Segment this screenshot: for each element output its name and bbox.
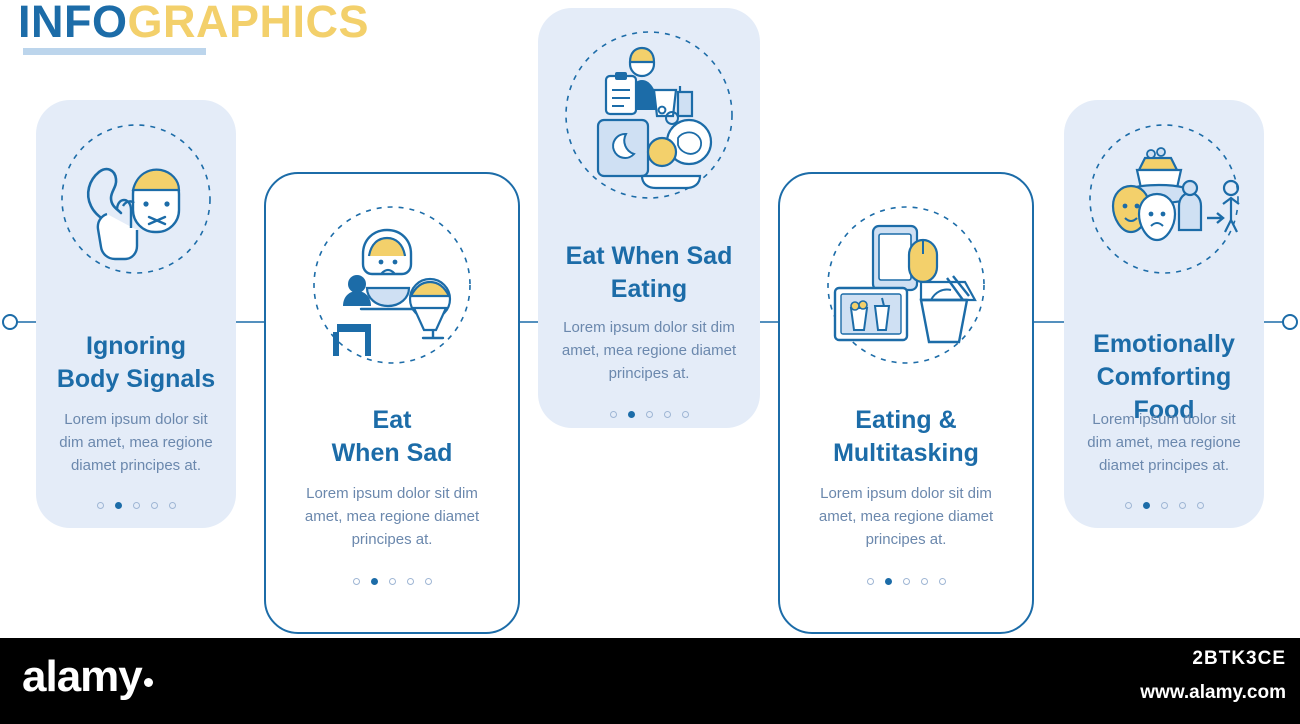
- alamy-logo-dot: [144, 678, 153, 687]
- step-dot[interactable]: [133, 502, 140, 509]
- step-dot[interactable]: [610, 411, 617, 418]
- card-title-line1: Ignoring: [86, 332, 186, 360]
- delivery-person-night-eating-icon: [554, 20, 744, 210]
- card-title-line1: Eat When Sad: [566, 242, 733, 270]
- step-dot[interactable]: [1161, 502, 1168, 509]
- card-step-dots[interactable]: [538, 411, 760, 418]
- card-step-dots[interactable]: [780, 578, 1032, 585]
- card-eating-multitasking[interactable]: Eating & Multitasking Lorem ipsum dolor …: [778, 172, 1034, 634]
- card-ignoring-body-signals[interactable]: Ignoring Body Signals Lorem ipsum dolor …: [36, 100, 236, 528]
- alamy-url: www.alamy.com: [1140, 682, 1286, 704]
- step-dot[interactable]: [425, 578, 432, 585]
- step-dot[interactable]: [939, 578, 946, 585]
- image-code: 2BTK3CE: [1192, 648, 1286, 670]
- step-dot[interactable]: [867, 578, 874, 585]
- card-body: Lorem ipsum dolor sit dim amet, mea regi…: [36, 408, 236, 477]
- step-dot[interactable]: [389, 578, 396, 585]
- card-title-line1: Emotionally: [1093, 330, 1235, 358]
- card-eat-when-sad[interactable]: Eat When Sad Lorem ipsum dolor sit dim a…: [264, 172, 520, 634]
- step-dot[interactable]: [921, 578, 928, 585]
- card-title-line2: Multitasking: [833, 439, 979, 467]
- step-dot[interactable]: [903, 578, 910, 585]
- alamy-logo: alamy: [22, 652, 153, 702]
- card-title-line1: Eat: [373, 406, 412, 434]
- card-title: Eating & Multitasking: [780, 404, 1032, 470]
- infographic-canvas: INFOGRAPHICS a m y: [0, 0, 1300, 724]
- step-dot[interactable]: [97, 502, 104, 509]
- step-dot-active[interactable]: [115, 502, 122, 509]
- step-dot[interactable]: [407, 578, 414, 585]
- step-dot-active[interactable]: [1143, 502, 1150, 509]
- cake-masks-person-icon: [1079, 114, 1249, 284]
- card-eat-when-sad-eating[interactable]: Eat When Sad Eating Lorem ipsum dolor si…: [538, 8, 760, 428]
- card-title-line1: Eating &: [855, 406, 956, 434]
- step-dot-active[interactable]: [628, 411, 635, 418]
- sad-person-eating-icon: [303, 196, 481, 374]
- stock-footer-bar: alamy 2BTK3CE www.alamy.com: [0, 638, 1300, 724]
- card-body: Lorem ipsum dolor sit dim amet, mea regi…: [1064, 408, 1264, 477]
- step-dot[interactable]: [664, 411, 671, 418]
- card-step-dots[interactable]: [36, 502, 236, 509]
- step-dot[interactable]: [1197, 502, 1204, 509]
- card-title-line2: When Sad: [332, 439, 453, 467]
- step-dot-active[interactable]: [885, 578, 892, 585]
- card-title: Ignoring Body Signals: [36, 330, 236, 396]
- step-dot-active[interactable]: [371, 578, 378, 585]
- card-title: Eat When Sad Eating: [538, 240, 760, 306]
- card-body: Lorem ipsum dolor sit dim amet, mea regi…: [780, 482, 1032, 551]
- stomach-face-silenced-icon: [51, 114, 221, 284]
- step-dot[interactable]: [646, 411, 653, 418]
- card-body: Lorem ipsum dolor sit dim amet, mea regi…: [538, 316, 760, 385]
- card-title: Eat When Sad: [266, 404, 518, 470]
- step-dot[interactable]: [353, 578, 360, 585]
- step-dot[interactable]: [169, 502, 176, 509]
- step-dot[interactable]: [1179, 502, 1186, 509]
- step-dot[interactable]: [151, 502, 158, 509]
- card-step-dots[interactable]: [1064, 502, 1264, 509]
- card-step-dots[interactable]: [266, 578, 518, 585]
- step-dot[interactable]: [1125, 502, 1132, 509]
- step-dot[interactable]: [682, 411, 689, 418]
- screens-popcorn-noodles-icon: [817, 196, 995, 374]
- card-emotionally-comforting-food[interactable]: Emotionally Comforting Food Lorem ipsum …: [1064, 100, 1264, 528]
- card-title-line2: Body Signals: [57, 365, 215, 393]
- alamy-logo-text: alamy: [22, 652, 142, 701]
- card-title-line2: Eating: [611, 275, 687, 303]
- card-body: Lorem ipsum dolor sit dim amet, mea regi…: [266, 482, 518, 551]
